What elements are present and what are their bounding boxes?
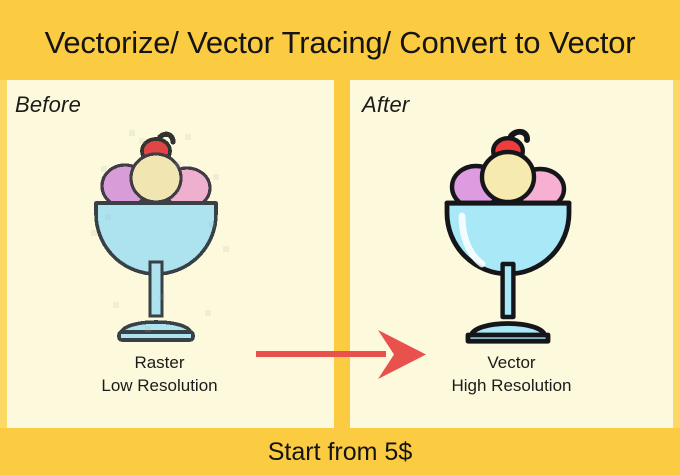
vector-ice-cream-sundae-icon	[437, 126, 587, 348]
before-label: Before	[15, 92, 81, 118]
after-caption-line2: High Resolution	[350, 375, 673, 398]
price-text: Start from 5$	[268, 440, 413, 465]
right-edge-strip	[673, 80, 680, 428]
before-art-slot	[7, 122, 334, 352]
after-label: After	[362, 92, 409, 118]
pixelated-ice-cream-sundae-icon	[85, 126, 235, 348]
before-caption-line2: Low Resolution	[7, 375, 312, 398]
before-panel: Before	[7, 80, 334, 428]
page-title: Vectorize/ Vector Tracing/ Convert to Ve…	[45, 27, 636, 58]
comparison-region: Before	[0, 80, 680, 428]
left-edge-strip	[0, 80, 7, 428]
after-panel: After	[350, 80, 673, 428]
header-band: Vectorize/ Vector Tracing/ Convert to Ve…	[0, 0, 680, 80]
before-caption-line1: Raster	[7, 352, 312, 375]
before-caption: Raster Low Resolution	[7, 352, 334, 398]
panel-divider	[334, 80, 350, 428]
poster-canvas: Vectorize/ Vector Tracing/ Convert to Ve…	[0, 0, 680, 475]
after-caption: Vector High Resolution	[350, 352, 673, 398]
after-art-slot	[350, 122, 673, 352]
footer-band: Start from 5$	[0, 428, 680, 475]
after-caption-line1: Vector	[350, 352, 673, 375]
